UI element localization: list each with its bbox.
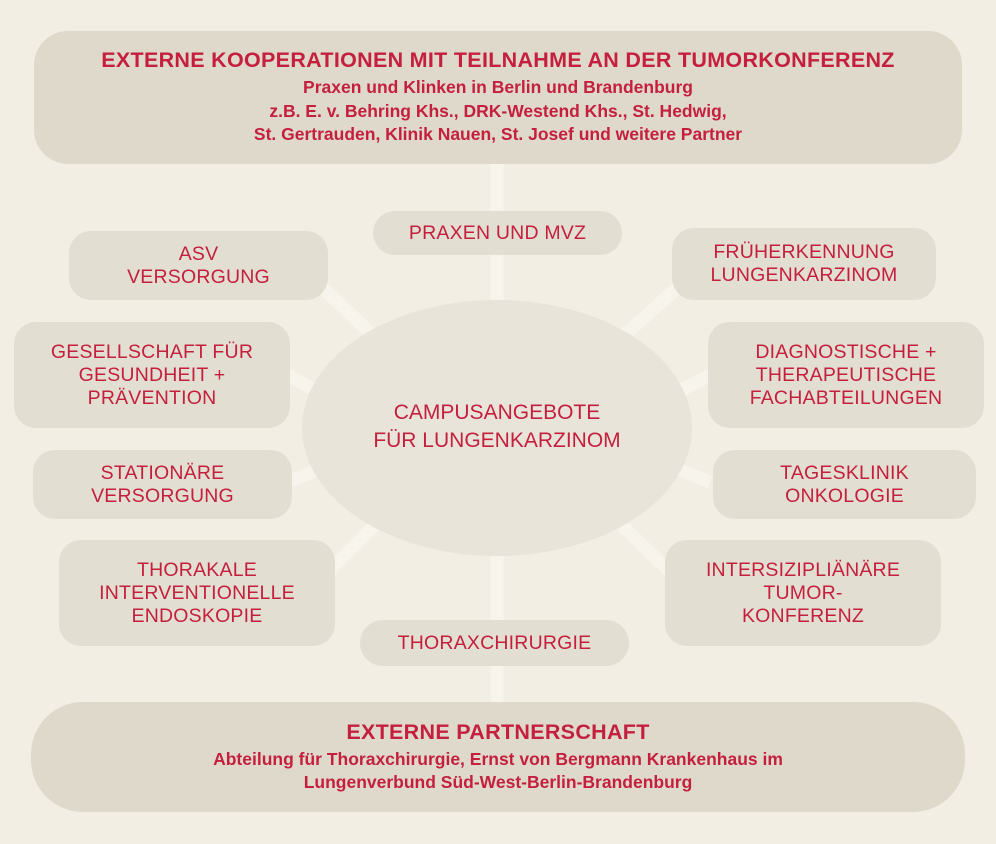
node-frueh-line-2: LUNGENKARZINOM [682,264,926,287]
center-node[interactable]: CAMPUSANGEBOTE FÜR LUNGENKARZINOM [302,331,692,523]
node-tagesklinik-onkologie[interactable]: TAGESKLINIK ONKOLOGIE [713,450,976,519]
banner-bottom-line-2: Lungenverbund Süd-West-Berlin-Brandenbur… [304,771,693,794]
banner-bottom-line-1: Abteilung für Thoraxchirurgie, Ernst von… [213,748,783,771]
node-praxen-und-mvz[interactable]: PRAXEN UND MVZ [373,211,622,255]
node-asv-line-1: ASV [79,243,318,266]
node-gesellschaft-line-3: PRÄVENTION [24,387,280,410]
node-diag-line-2: THERAPEUTISCHE [718,364,974,387]
node-tumorkonf-line-1: INTERSIZIPLIÄNÄRE [675,559,931,582]
node-stationaer-line-2: VERSORGUNG [43,485,282,508]
banner-top-line-2: z.B. E. v. Behring Khs., DRK-Westend Khs… [269,100,726,123]
node-asv-line-2: VERSORGUNG [79,266,318,289]
node-gesellschaft-line-1: GESELLSCHAFT FÜR [24,341,280,364]
node-diagnostische-therapeutische-fachabteilungen[interactable]: DIAGNOSTISCHE + THERAPEUTISCHE FACHABTEI… [708,322,984,428]
node-tumorkonf-line-2: TUMOR- [675,582,931,605]
node-diag-line-3: FACHABTEILUNGEN [718,387,974,410]
node-gesellschaft-line-2: GESUNDHEIT + [24,364,280,387]
node-thoraxchir-line-1: THORAXCHIRURGIE [370,632,619,655]
center-line-1: CAMPUSANGEBOTE [373,399,620,427]
banner-top-line-1: Praxen und Klinken in Berlin und Branden… [303,76,693,99]
node-thorakale-interventionelle-endoskopie[interactable]: THORAKALE INTERVENTIONELLE ENDOSKOPIE [59,540,335,646]
node-thoraxchirurgie[interactable]: THORAXCHIRURGIE [360,620,629,666]
node-asv-versorgung[interactable]: ASV VERSORGUNG [69,231,328,300]
node-praxen-line-1: PRAXEN UND MVZ [383,222,612,245]
node-thorakale-line-3: ENDOSKOPIE [69,605,325,628]
banner-top-title: EXTERNE KOOPERATIONEN MIT TEILNAHME AN D… [101,48,895,73]
node-stationaer-line-1: STATIONÄRE [43,462,282,485]
node-tumorkonf-line-3: KONFERENZ [675,605,931,628]
campus-offerings-diagram: CAMPUSANGEBOTE FÜR LUNGENKARZINOM EXTERN… [0,0,996,844]
center-line-2: FÜR LUNGENKARZINOM [373,427,620,455]
externe-kooperationen-banner[interactable]: EXTERNE KOOPERATIONEN MIT TEILNAHME AN D… [34,31,962,164]
node-interdisziplinaere-tumorkonferenz[interactable]: INTERSIZIPLIÄNÄRE TUMOR- KONFERENZ [665,540,941,646]
node-thorakale-line-1: THORAKALE [69,559,325,582]
node-frueherkennung-lungenkarzinom[interactable]: FRÜHERKENNUNG LUNGENKARZINOM [672,228,936,300]
externe-partnerschaft-banner[interactable]: EXTERNE PARTNERSCHAFT Abteilung für Thor… [31,702,965,812]
banner-bottom-title: EXTERNE PARTNERSCHAFT [346,720,649,745]
node-thorakale-line-2: INTERVENTIONELLE [69,582,325,605]
banner-top-line-3: St. Gertrauden, Klinik Nauen, St. Josef … [254,123,742,146]
node-gesellschaft-gesundheit-praevention[interactable]: GESELLSCHAFT FÜR GESUNDHEIT + PRÄVENTION [14,322,290,428]
node-tagesklinik-line-1: TAGESKLINIK [723,462,966,485]
node-stationaere-versorgung[interactable]: STATIONÄRE VERSORGUNG [33,450,292,519]
node-tagesklinik-line-2: ONKOLOGIE [723,485,966,508]
node-frueh-line-1: FRÜHERKENNUNG [682,241,926,264]
node-diag-line-1: DIAGNOSTISCHE + [718,341,974,364]
